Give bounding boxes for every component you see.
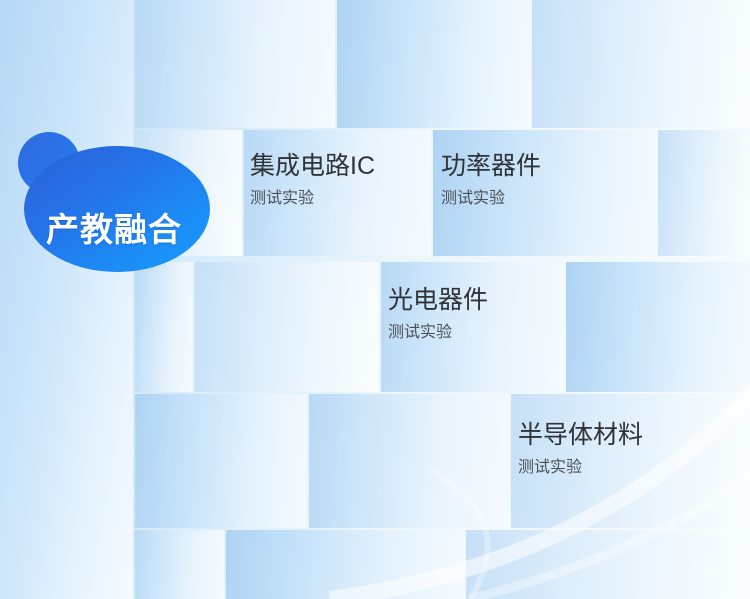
- background-tile: [0, 0, 133, 599]
- background-brick-grid: [0, 0, 750, 599]
- feature-title: 功率器件: [441, 152, 541, 182]
- background-tile: [135, 262, 193, 392]
- background-tile: [658, 130, 750, 256]
- badge-label: 产教融合: [16, 132, 212, 272]
- feature-subtitle: 测试实验: [388, 323, 488, 344]
- background-tile: [309, 394, 509, 528]
- brand-badge: 产教融合: [16, 132, 212, 272]
- background-tile: [226, 530, 464, 599]
- background-tile: [195, 262, 379, 392]
- background-tile: [566, 262, 750, 392]
- feature-title: 半导体材料: [518, 421, 643, 451]
- background-tile: [337, 0, 530, 128]
- poster-canvas: 产教融合 集成电路IC 测试实验 功率器件 测试实验 光电器件 测试实验 半导体…: [0, 0, 750, 599]
- background-tile: [135, 530, 224, 599]
- feature-title: 光电器件: [388, 286, 488, 316]
- feature-item: 半导体材料 测试实验: [518, 421, 643, 478]
- background-tile: [466, 530, 750, 599]
- feature-subtitle: 测试实验: [441, 189, 541, 210]
- feature-subtitle: 测试实验: [518, 458, 643, 479]
- feature-item: 光电器件 测试实验: [388, 286, 488, 343]
- feature-subtitle: 测试实验: [250, 189, 375, 210]
- background-tile: [135, 0, 335, 128]
- background-tile: [135, 394, 307, 528]
- feature-item: 功率器件 测试实验: [441, 152, 541, 209]
- feature-item: 集成电路IC 测试实验: [250, 152, 375, 209]
- background-tile: [532, 0, 750, 128]
- feature-title: 集成电路IC: [250, 152, 375, 182]
